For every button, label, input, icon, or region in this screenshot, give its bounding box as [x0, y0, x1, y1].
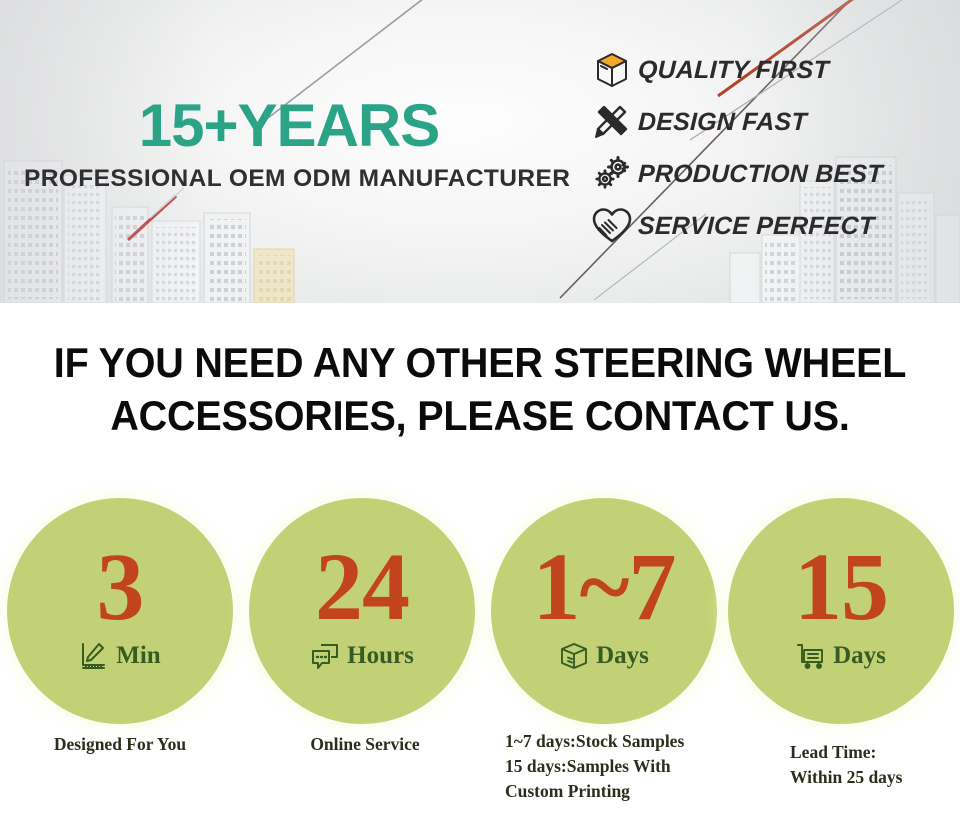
promo-page: 15+YEARS PROFESSIONAL OEM ODM MANUFACTUR…	[0, 0, 960, 833]
caption-line: Designed For You	[0, 732, 245, 757]
years-word: YEARS	[238, 92, 440, 159]
gears-icon	[586, 151, 638, 197]
headline-line-2: ACCESSORIES, PLEASE CONTACT US.	[29, 389, 931, 442]
feature-label: QUALITY FIRST	[637, 56, 829, 85]
stat-unit: Hours	[347, 642, 414, 670]
years-number: 15+	[139, 92, 238, 159]
pencil-pen-icon	[586, 99, 638, 145]
package-box-icon	[586, 47, 638, 93]
handshake-heart-icon	[586, 203, 638, 249]
feature-list: QUALITY FIRST DESIGN FAST	[586, 44, 946, 252]
stat-number: 1~7	[533, 545, 676, 629]
pencil-ruler-icon	[79, 641, 109, 671]
stat-unit-row: Days	[796, 641, 886, 671]
box-icon	[559, 641, 589, 671]
page-headline: IF YOU NEED ANY OTHER STEERING WHEEL ACC…	[29, 336, 931, 442]
stat-circle-row: 3	[0, 498, 960, 724]
caption-online-service: Online Service	[240, 732, 490, 757]
stat-circle-hours: 24 Hours	[249, 498, 475, 724]
feature-item-service: SERVICE PERFECT	[586, 200, 946, 252]
stat-unit: Min	[116, 642, 160, 670]
banner-subtitle: PROFESSIONAL OEM ODM MANUFACTURER	[24, 165, 554, 193]
caption-line: 1~7 days:Stock Samples	[505, 729, 765, 754]
caption-lead-time: Lead Time: Within 25 days	[790, 740, 960, 790]
stat-circle-lead-time: 15 Days	[728, 498, 954, 724]
caption-line: Online Service	[240, 732, 490, 757]
caption-line: 15 days:Samples With	[505, 754, 765, 779]
years-block: 15+YEARS PROFESSIONAL OEM ODM MANUFACTUR…	[24, 96, 554, 193]
caption-line: Within 25 days	[790, 765, 960, 790]
feature-label: SERVICE PERFECT	[637, 212, 874, 241]
stat-unit-row: Hours	[310, 641, 414, 671]
shopping-cart-icon	[796, 641, 826, 671]
headline-line-1: IF YOU NEED ANY OTHER STEERING WHEEL	[29, 336, 931, 389]
caption-designed-for-you: Designed For You	[0, 732, 245, 757]
caption-stock-samples: 1~7 days:Stock Samples 15 days:Samples W…	[505, 729, 765, 804]
stat-unit-row: Min	[79, 641, 160, 671]
company-banner: 15+YEARS PROFESSIONAL OEM ODM MANUFACTUR…	[0, 0, 960, 303]
stat-number: 3	[97, 545, 144, 629]
feature-label: PRODUCTION BEST	[637, 160, 883, 189]
caption-line: Lead Time:	[790, 740, 960, 765]
stat-unit: Days	[833, 642, 886, 670]
stat-unit: Days	[596, 642, 649, 670]
stat-unit-row: Days	[559, 641, 649, 671]
caption-line: Custom Printing	[505, 779, 765, 804]
chat-bubbles-icon	[310, 641, 340, 671]
caption-row: Designed For You Online Service 1~7 days…	[0, 732, 960, 828]
stat-circle-days-sample: 1~7 Days	[491, 498, 717, 724]
feature-item-production: PRODUCTION BEST	[586, 148, 946, 200]
stat-number: 24	[315, 545, 409, 629]
feature-item-design: DESIGN FAST	[586, 96, 946, 148]
feature-item-quality: QUALITY FIRST	[586, 44, 946, 96]
stat-circle-min: 3	[7, 498, 233, 724]
feature-label: DESIGN FAST	[637, 108, 807, 137]
stat-number: 15	[794, 545, 888, 629]
years-headline: 15+YEARS	[24, 96, 554, 156]
